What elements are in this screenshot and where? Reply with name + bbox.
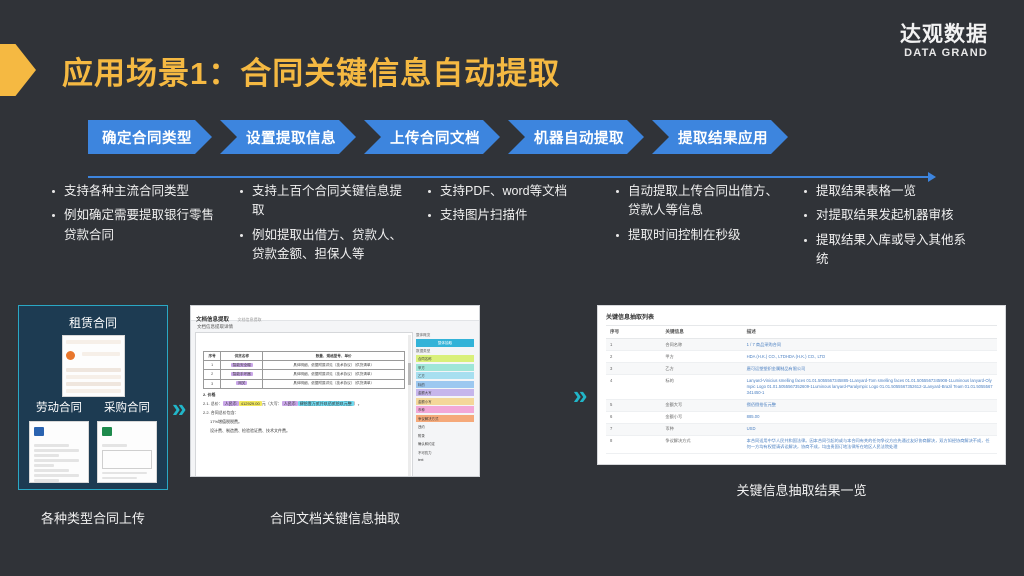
label-chip[interactable]: 违约 — [416, 423, 474, 430]
document-viewer[interactable]: 序号 供货名称 数量、规格型号、单价 1 智能安全帽 具体明细、依据附属详见（技… — [195, 332, 413, 477]
contract-thumbnail-lease[interactable] — [62, 335, 125, 397]
highlight-currency-2: 人民币 — [282, 401, 298, 406]
document-line: 设计费、制造费、检验验证费、技术文件费。 — [210, 428, 405, 434]
contract-type-right-label: 采购合同 — [97, 399, 157, 415]
panel-extraction-ui[interactable]: 文档信息提取 文档信息提取 文档信息提取详情 序号 供货名称 数量、规格型号、单… — [190, 305, 480, 477]
table-cell-no: 3 — [204, 379, 221, 388]
thumb-line — [82, 352, 120, 356]
table-row: 4 标的 Lanyard-Vinicius smelling faces 01.… — [606, 375, 997, 399]
cell-no: 2 — [606, 351, 661, 363]
bullet-column-4: 自动提取上传合同出借方、贷款人等信息 提取时间控制在秒级 — [614, 182, 786, 275]
cell-key: 金额小写 — [661, 411, 742, 423]
thumb-line — [66, 396, 121, 397]
extraction-body: 序号 供货名称 数量、规格型号、单价 1 智能安全帽 具体明细、依据附属详见（技… — [191, 332, 479, 477]
document-heading: 2. 价格 — [203, 392, 405, 398]
highlight-currency: 人民币 — [223, 401, 239, 406]
thumb-line — [34, 474, 79, 477]
label-chip[interactable]: 争议解决方式 — [416, 415, 474, 422]
table-row: 8 争议解决方式 本合同适用中华人民共和国法律。因本合同引起的或与本合同有关的任… — [606, 435, 997, 453]
cell-desc: USD — [743, 423, 997, 435]
process-steps: 确定合同类型 设置提取信息 上传合同文档 机器自动提取 提取结果应用 — [88, 120, 796, 154]
cell-desc: 捌佰捌拾伍元整 — [743, 399, 997, 411]
contract-type-main-label: 租赁合同 — [29, 314, 157, 331]
table-row: 2 甲方 HDA (H.K.) CO., LTDHDA (H.K.) CO., … — [606, 351, 997, 363]
bullet-item: 例如提取出借方、贷款人、贷款金额、担保人等 — [238, 226, 410, 265]
label-chip[interactable]: 确认和约定 — [416, 440, 474, 447]
process-axis-arrow-icon — [928, 172, 936, 182]
table-row: 7 币种 USD — [606, 423, 997, 435]
bullet-item: 提取结果表格一览 — [802, 182, 974, 201]
price-suffix: ）。 — [354, 401, 362, 406]
process-axis — [88, 172, 936, 182]
step-chevron-3[interactable]: 上传合同文档 — [364, 120, 500, 154]
cell-no: 3 — [606, 363, 661, 375]
highlight-span: 网关 — [236, 381, 247, 385]
thumb-line — [34, 454, 59, 457]
bullet-item: 提取时间控制在秒级 — [614, 226, 786, 245]
chevron-arrow-icon-2: » — [573, 382, 587, 408]
thumb-line — [34, 464, 54, 467]
bullet-column-2: 支持上百个合同关键信息提取 例如提取出借方、贷款人、贷款金额、担保人等 — [238, 182, 410, 275]
table-row: 1 智能安全帽 具体明细、依据附属详见（技术协议）（供货清单） — [204, 361, 405, 370]
label-chip[interactable]: 附录 — [416, 432, 474, 439]
extraction-app-title: 文档信息提取 — [196, 317, 229, 323]
table-cell-spec: 具体明细、依据附属详见（技术协议）（供货清单） — [263, 370, 405, 379]
step-chevron-5[interactable]: 提取结果应用 — [652, 120, 788, 154]
caption-panel-2: 合同文档关键信息抽取 — [190, 508, 480, 527]
thumb-line — [102, 444, 127, 447]
thumb-line — [102, 472, 147, 475]
cell-desc: HDA (H.K.) CO., LTDHDA (H.K.) CO., LTD — [743, 351, 997, 363]
cell-key: 甲方 — [661, 351, 742, 363]
contract-thumbnail-purchase[interactable] — [97, 421, 157, 483]
table-cell-no: 2 — [204, 370, 221, 379]
cell-no: 6 — [606, 411, 661, 423]
highlight-span: 智能手环器 — [231, 372, 253, 376]
table-header-cell: 供货名称 — [221, 352, 263, 361]
cell-no: 1 — [606, 339, 661, 351]
cell-key: 乙方 — [661, 363, 742, 375]
document-price-line: 2.1. 总价：人民币412929.00元（大写：人民币肆拾壹万贰仟玖佰贰拾玖元… — [203, 401, 405, 407]
table-header-cell: 序号 — [606, 326, 661, 339]
bullet-item: 支持各种主流合同类型 — [50, 182, 222, 201]
thumb-line — [66, 368, 121, 372]
cell-key: 标的 — [661, 375, 742, 399]
panel-contract-types[interactable]: 租赁合同 劳动合同 采购合同 — [18, 305, 168, 490]
bullet-item: 例如确定需要提取银行零售贷款合同 — [50, 206, 222, 245]
thumb-line — [34, 449, 79, 452]
document-icon — [66, 351, 75, 360]
bullet-item: 对提取结果发起机器审核 — [802, 206, 974, 225]
thumb-line — [102, 482, 147, 484]
thumb-line — [34, 479, 59, 482]
document-line: 17%增值税税费。 — [210, 419, 405, 425]
cell-desc: 本合同适用中华人民共和国法律。因本合同引起的或与本合同有关的任何争议方应先通过友… — [743, 435, 997, 453]
cell-key: 币种 — [661, 423, 742, 435]
table-cell-name: 网关 — [221, 379, 263, 388]
table-row: 3 乙方 唐可运塑塑织金属制品有限公司 — [606, 363, 997, 375]
thumb-grid — [102, 450, 152, 469]
table-cell-no: 1 — [204, 361, 221, 370]
table-header-row: 序号 关键信息 描述 — [606, 326, 997, 339]
table-row: 5 金额大写 捌佰捌拾伍元整 — [606, 399, 997, 411]
step-chevron-4[interactable]: 机器自动提取 — [508, 120, 644, 154]
highlight-span: 智能安全帽 — [231, 363, 253, 367]
bullet-column-3: 支持PDF、word等文档 支持图片扫描件 — [426, 182, 598, 275]
table-cell-name: 智能安全帽 — [221, 361, 263, 370]
page-title: 应用场景1：合同关键信息自动提取 — [62, 48, 560, 93]
extraction-sidebar: 整体概览 整体抽取 数据类型 合同名称 甲方 乙方 标的 金额大写 金额小写 币… — [416, 332, 474, 477]
label-chip[interactable]: 合同名称 — [416, 355, 474, 362]
screenshot-panels: 租赁合同 劳动合同 采购合同 — [0, 300, 1024, 576]
table-cell-name: 智能手环器 — [221, 370, 263, 379]
thumb-header-row — [66, 347, 121, 365]
cell-desc: 1 / 7 商品采购合同 — [743, 339, 997, 351]
table-cell-spec: 具体明细、依据附属详见（技术协议）（供货清单） — [263, 361, 405, 370]
cell-desc: 885.00 — [743, 411, 997, 423]
thumb-line — [34, 469, 69, 472]
step-chevron-1[interactable]: 确定合同类型 — [88, 120, 212, 154]
bullet-item: 提取结果入库或导入其他系统 — [802, 231, 974, 270]
result-table-title: 关键信息抽取列表 — [606, 312, 997, 325]
price-prefix: 2.1. 总价： — [203, 401, 223, 406]
title-arrow-icon — [0, 44, 36, 96]
bullet-item: 支持PDF、word等文档 — [426, 182, 598, 201]
highlight-amount: 412929.00 — [239, 401, 262, 406]
cell-desc: Lanyard-Vinicius smelling faces 01.01.50… — [743, 375, 997, 399]
label-chip[interactable]: 金额小写 — [416, 398, 474, 405]
label-chip[interactable]: text — [416, 457, 474, 463]
sidebar-label-title: 整体概览 — [416, 333, 474, 338]
bullet-columns: 支持各种主流合同类型 例如确定需要提取银行零售贷款合同 支持上百个合同关键信息提… — [50, 182, 990, 275]
cell-key: 合同名称 — [661, 339, 742, 351]
table-header-cell: 关键信息 — [661, 326, 742, 339]
table-header-cell: 序号 — [204, 352, 221, 361]
cell-no: 5 — [606, 399, 661, 411]
table-row: 2 智能手环器 具体明细、依据附属详见（技术协议）（供货清单） — [204, 370, 405, 379]
table-row: 1 合同名称 1 / 7 商品采购合同 — [606, 339, 997, 351]
contract-thumbnail-pair — [29, 421, 157, 483]
label-chip[interactable]: 金额大写 — [416, 389, 474, 396]
brand-logo-cn: 达观数据 — [900, 24, 988, 45]
extract-all-button[interactable]: 整体抽取 — [416, 339, 474, 347]
cell-key: 金额大写 — [661, 399, 742, 411]
scrollbar-thumb[interactable] — [408, 363, 411, 385]
thumb-line — [66, 375, 121, 379]
label-chip[interactable]: 标的 — [416, 381, 474, 388]
contract-type-left-label: 劳动合同 — [29, 399, 89, 415]
caption-panel-3: 关键信息抽取结果一览 — [597, 480, 1006, 499]
sidebar-type-title: 数据类型 — [416, 349, 474, 354]
price-mid: 元（大写： — [262, 401, 282, 406]
label-chip[interactable]: 不可抗力 — [416, 449, 474, 456]
cell-desc: 唐可运塑塑织金属制品有限公司 — [743, 363, 997, 375]
contract-thumbnail-labor[interactable] — [29, 421, 89, 483]
panel-result-table[interactable]: 关键信息抽取列表 序号 关键信息 描述 1 合同名称 1 / 7 商品采购合同 — [597, 305, 1006, 465]
excel-icon — [102, 427, 112, 436]
bullet-item: 自动提取上传合同出借方、贷款人等信息 — [614, 182, 786, 221]
cell-no: 7 — [606, 423, 661, 435]
brand-logo: 达观数据 DATA GRAND — [900, 24, 988, 59]
label-chip[interactable]: 币种 — [416, 406, 474, 413]
thumb-line — [66, 382, 121, 386]
table-cell-spec: 具体明细、依据附属详见（技术协议）（供货清单） — [263, 379, 405, 388]
slide-root: 达观数据 DATA GRAND 应用场景1：合同关键信息自动提取 确定合同类型 … — [0, 0, 1024, 576]
process-axis-line — [88, 176, 928, 178]
label-chip[interactable]: 乙方 — [416, 372, 474, 379]
word-icon — [34, 427, 44, 436]
thumb-line — [66, 340, 121, 344]
table-header-cell: 数量、规格型号、单价 — [263, 352, 405, 361]
bullet-item: 支持图片扫描件 — [426, 206, 598, 225]
cell-no: 4 — [606, 375, 661, 399]
document-scrollbar[interactable] — [408, 335, 411, 477]
caption-panel-1: 各种类型合同上传 — [18, 508, 168, 527]
table-header-cell: 描述 — [743, 326, 997, 339]
document-line: 2.2. 合同总价包含： — [203, 410, 405, 416]
brand-logo-en: DATA GRAND — [900, 48, 988, 59]
result-table: 序号 关键信息 描述 1 合同名称 1 / 7 商品采购合同 2 甲方 HDA … — [606, 325, 997, 454]
table-row: 3 网关 具体明细、依据附属详见（技术协议）（供货清单） — [204, 379, 405, 388]
extraction-app-header: 文档信息提取 文档信息提取 — [191, 306, 479, 321]
highlight-amount-words: 肆拾壹万贰仟玖佰贰拾玖元整 — [298, 401, 354, 406]
thumb-line — [34, 444, 69, 447]
step-chevron-2[interactable]: 设置提取信息 — [220, 120, 356, 154]
label-chip[interactable]: 甲方 — [416, 364, 474, 371]
contract-type-sublabels: 劳动合同 采购合同 — [29, 399, 157, 419]
bullet-column-5: 提取结果表格一览 对提取结果发起机器审核 提取结果入库或导入其他系统 — [802, 182, 974, 275]
table-row: 6 金额小写 885.00 — [606, 411, 997, 423]
thumb-line — [102, 477, 137, 480]
cell-key: 争议解决方式 — [661, 435, 742, 453]
table-header-row: 序号 供货名称 数量、规格型号、单价 — [204, 352, 405, 361]
document-table: 序号 供货名称 数量、规格型号、单价 1 智能安全帽 具体明细、依据附属详见（技… — [203, 351, 405, 389]
bullet-column-1: 支持各种主流合同类型 例如确定需要提取银行零售贷款合同 — [50, 182, 222, 275]
cell-no: 8 — [606, 435, 661, 453]
extraction-app-subtitle: 文档信息提取 — [237, 317, 261, 322]
thumb-line — [66, 389, 121, 393]
chevron-arrow-icon-1: » — [172, 395, 186, 421]
bullet-item: 支持上百个合同关键信息提取 — [238, 182, 410, 221]
thumb-line — [34, 459, 79, 462]
